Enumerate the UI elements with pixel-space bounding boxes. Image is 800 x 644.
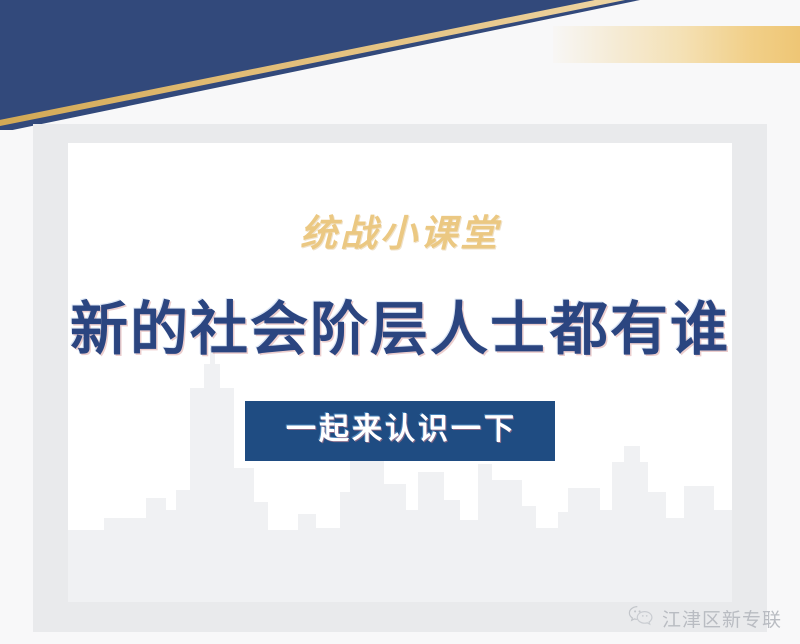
- gold-gradient-bar: [553, 26, 800, 63]
- wechat-icon: [628, 605, 654, 632]
- cta-button[interactable]: 一起来认识一下: [245, 401, 555, 461]
- watermark: 江津区新专联: [628, 605, 782, 632]
- card-inner-panel: 统战小课堂 新的社会阶层人士都有谁 一起来认识一下: [68, 143, 732, 602]
- cta-row: 一起来认识一下: [68, 401, 732, 461]
- poster-eyebrow: 统战小课堂: [68, 203, 732, 257]
- poster-canvas: 统战小课堂 新的社会阶层人士都有谁 一起来认识一下 江津区新专联: [0, 0, 800, 644]
- city-skyline-silhouette: [68, 342, 732, 602]
- watermark-label: 江津区新专联: [662, 605, 782, 632]
- page-title: 新的社会阶层人士都有谁: [68, 282, 732, 366]
